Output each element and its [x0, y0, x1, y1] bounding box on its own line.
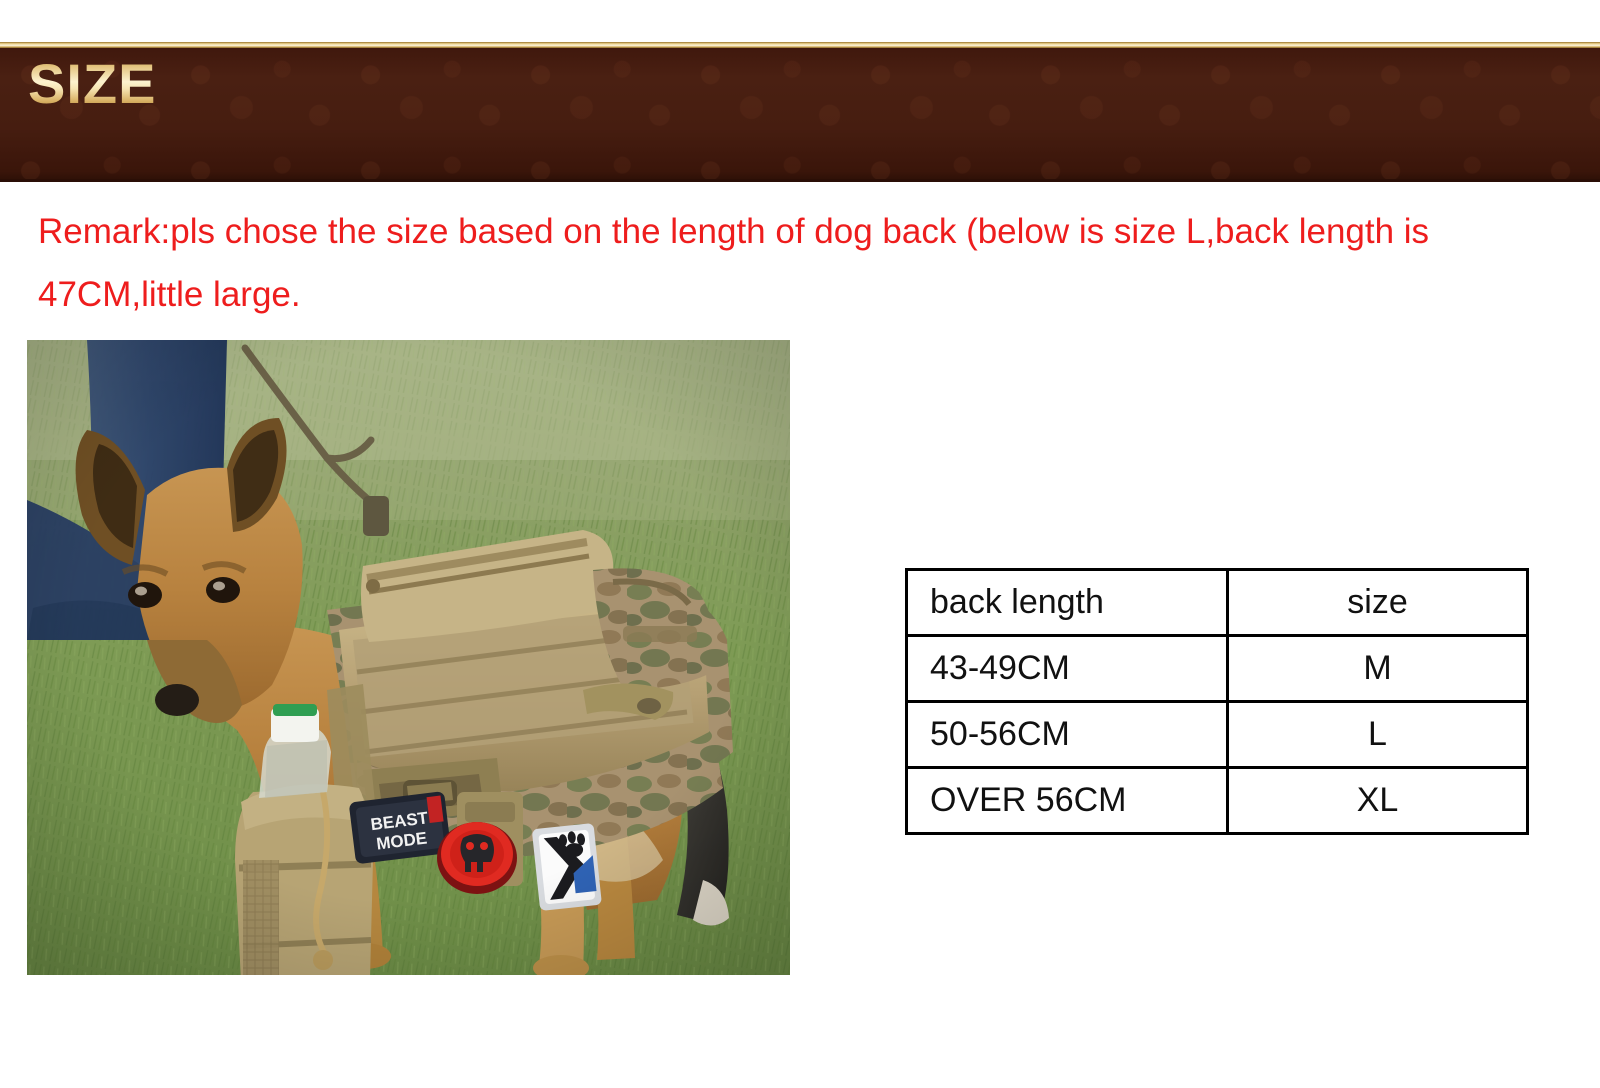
product-photo: BEAST MODE: [27, 340, 790, 975]
cell-size: M: [1228, 636, 1528, 702]
column-header-size: size: [1228, 570, 1528, 636]
size-header-banner: SIZE: [0, 42, 1600, 182]
page-title: SIZE: [28, 56, 156, 112]
banner-background: SIZE: [0, 48, 1600, 182]
cell-back-length: OVER 56CM: [907, 768, 1228, 834]
cell-size: XL: [1228, 768, 1528, 834]
cell-back-length: 43-49CM: [907, 636, 1228, 702]
size-chart-table: back length size 43-49CM M 50-56CM L OVE…: [905, 568, 1529, 835]
table-row: 43-49CM M: [907, 636, 1528, 702]
table-header-row: back length size: [907, 570, 1528, 636]
table-row: 50-56CM L: [907, 702, 1528, 768]
dog-harness-illustration: BEAST MODE: [27, 340, 790, 975]
cell-back-length: 50-56CM: [907, 702, 1228, 768]
size-table-body: back length size 43-49CM M 50-56CM L OVE…: [907, 570, 1528, 834]
remark-text: Remark:pls chose the size based on the l…: [38, 200, 1488, 326]
cell-size: L: [1228, 702, 1528, 768]
column-header-back-length: back length: [907, 570, 1228, 636]
table-row: OVER 56CM XL: [907, 768, 1528, 834]
